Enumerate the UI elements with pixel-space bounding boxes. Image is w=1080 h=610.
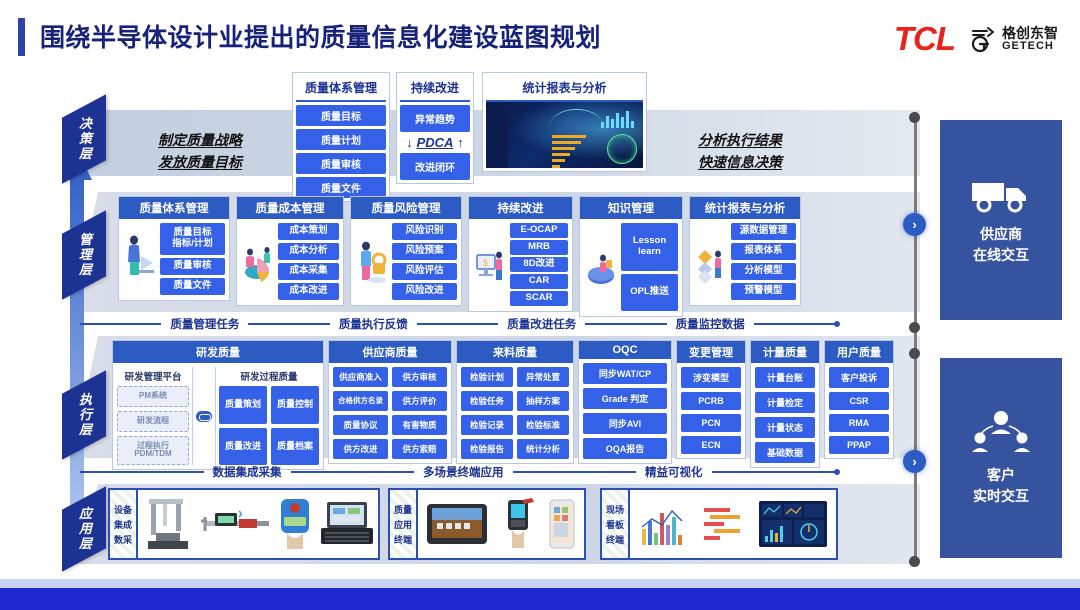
exec-chip[interactable]: 质量改进: [219, 428, 267, 466]
mgmt-chip[interactable]: 风险改进: [392, 283, 457, 300]
exec-col-customer-quality[interactable]: 用户质量 客户投诉 CSR RMA PPAP: [824, 340, 894, 459]
right-panel-customer[interactable]: 客户 实时交互: [940, 358, 1062, 558]
monitor-person-icon: $: [473, 223, 507, 306]
exec-chip[interactable]: 供方审核: [392, 367, 447, 387]
right-panel-supplier-label: 供应商 在线交互: [973, 224, 1029, 266]
exec-chip[interactable]: 抽样方案: [517, 391, 569, 411]
mgmt-chip[interactable]: 质量目标 指标/计划: [160, 223, 225, 255]
exec-chip[interactable]: 同步WAT/CP: [583, 363, 667, 384]
page-title: 围绕半导体设计业提出的质量信息化建设蓝图规划: [40, 18, 601, 54]
gantt-board-icon: [700, 502, 748, 546]
mgmt-chip[interactable]: SCAR: [510, 291, 568, 306]
rail-dot: [909, 322, 920, 333]
exec-chip[interactable]: PCRB: [681, 392, 741, 410]
mgmt-chip[interactable]: 质量审核: [160, 258, 225, 275]
exec-chip[interactable]: 质量协议: [333, 415, 388, 435]
mgmt-chip[interactable]: 质量文件: [160, 278, 225, 295]
exec-col-incoming-quality[interactable]: 来料质量 检验计划 异常处置 检验任务 抽样方案 检验记录 检验标准 检验报告 …: [456, 340, 574, 464]
decision-card-continuous-improvement[interactable]: 持续改进 异常趋势 ↓ PDCA ↑ 改进闭环: [396, 72, 474, 184]
exec-col-supplier-quality[interactable]: 供应商质量 供应商准入 供方审核 合格供方名录 供方评价 质量协议 有害物质 供…: [328, 340, 452, 464]
decision-chip[interactable]: 改进闭环: [400, 153, 470, 180]
mgmt-chip[interactable]: 成本采集: [278, 263, 339, 280]
truck-icon: [970, 175, 1032, 219]
mgmt-card-title: 持续改进: [469, 197, 572, 219]
getech-en-label: GETECH: [1002, 41, 1058, 53]
app-group-tag: 设备 集成 数采: [110, 490, 138, 558]
mgmt-card-title: 质量风险管理: [351, 197, 461, 219]
connector-row-top: 质量管理任务 质量执行反馈 质量改进任务 质量监控数据: [80, 316, 840, 332]
pdca-label: PDCA: [417, 135, 454, 150]
right-rail-line: [914, 112, 917, 564]
rail-dot: [909, 556, 920, 567]
rail-dot: [909, 348, 920, 359]
exec-col-title: 变更管理: [677, 341, 745, 363]
exec-chip[interactable]: OQA报告: [583, 438, 667, 459]
mgmt-card-title: 质量成本管理: [237, 197, 343, 219]
exec-chip[interactable]: 供方索赔: [392, 439, 447, 459]
mgmt-chip[interactable]: Lesson learn: [621, 223, 678, 271]
title-accent-bar: [18, 18, 25, 56]
pie-chart-people-icon: [241, 223, 275, 300]
rail-dot: [909, 112, 920, 123]
arrow-up-icon: ↑: [457, 135, 464, 150]
mgmt-card-statistics-analysis[interactable]: 统计报表与分析 源数据管理 报表体系 分析模型 预警模型: [689, 196, 801, 306]
app-group-quality-terminal[interactable]: 质量 应用 终端: [388, 488, 586, 560]
exec-chip[interactable]: 供方评价: [392, 391, 447, 411]
exec-col-title: 来料质量: [457, 341, 573, 363]
decision-slogan-right-1: 分析执行结果: [698, 130, 782, 150]
exec-chip[interactable]: 检验标准: [517, 415, 569, 435]
rail-expand-supplier-button[interactable]: ›: [903, 213, 926, 236]
mgmt-chip[interactable]: 风险识别: [392, 223, 457, 240]
app-group-andon-terminal[interactable]: 现场 看板 终端: [600, 488, 838, 560]
connector-label: 多场景终端应用: [414, 464, 513, 480]
person-lock-icon: [355, 223, 389, 300]
arrow-down-icon: ↓: [406, 135, 413, 150]
exec-chip[interactable]: 检验报告: [461, 439, 513, 459]
mgmt-chip[interactable]: E-OCAP: [510, 223, 568, 238]
exec-chip[interactable]: 基础数据: [755, 442, 815, 463]
exec-chip[interactable]: 供方改进: [333, 439, 388, 459]
exec-chip[interactable]: 异常处置: [517, 367, 569, 387]
decision-card-quality-system[interactable]: 质量体系管理 质量目标 质量计划 质量审核 质量文件: [292, 72, 390, 202]
pda-scanner-icon: [498, 498, 538, 550]
decision-card-statistics-analysis[interactable]: 统计报表与分析: [482, 72, 647, 172]
exec-chip[interactable]: 检验计划: [461, 367, 513, 387]
decision-card-title: 质量体系管理: [296, 76, 386, 102]
exec-dashed-chip[interactable]: PM系统: [117, 386, 189, 407]
connector-label: 质量执行反馈: [330, 316, 417, 332]
kpi-dashboard-icon: [758, 500, 828, 548]
decision-chip[interactable]: 异常趋势: [400, 105, 470, 132]
decision-slogan-left-1: 制定质量战略: [158, 130, 242, 150]
mgmt-chip[interactable]: 风险评估: [392, 263, 457, 280]
book-person-icon: [584, 223, 618, 311]
decision-card-title: 统计报表与分析: [486, 76, 643, 102]
right-panel-supplier[interactable]: 供应商 在线交互: [940, 120, 1062, 320]
mgmt-card-continuous-improvement[interactable]: 持续改进 $ E-OCAP MRB 8D改进 CAR SCAR: [468, 196, 573, 312]
exec-col-change-management[interactable]: 变更管理 涉变模型 PCRB PCN ECN: [676, 340, 746, 459]
link-connector-icon: [196, 411, 212, 422]
connector-label: 质量改进任务: [498, 316, 585, 332]
exec-col-metrology-quality[interactable]: 计量质量 计量台账 计量检定 计量状态 基础数据: [750, 340, 820, 468]
bar-chart-board-icon: [638, 499, 690, 549]
decision-slogan-right-2: 快速信息决策: [698, 152, 782, 172]
exec-subtitle: 研发过程质量: [219, 367, 319, 386]
layer-label-decision: 决策层: [75, 117, 94, 162]
decision-chip[interactable]: 质量审核: [296, 153, 386, 174]
handheld-scanner-icon: [275, 497, 315, 551]
industrial-laptop-icon: [319, 500, 375, 548]
person-laptop-icon: [123, 223, 157, 295]
layer-label-application: 应用层: [75, 507, 94, 552]
exec-chip[interactable]: 供应商准入: [333, 367, 388, 387]
right-panel-customer-label: 客户 实时交互: [973, 465, 1029, 507]
app-group-equipment-integration[interactable]: 设备 集成 数采: [108, 488, 380, 560]
exec-col-title: 用户质量: [825, 341, 893, 363]
upward-flow-arrow-icon: [62, 150, 92, 550]
connector-label: 质量监控数据: [667, 316, 754, 332]
exec-chip[interactable]: 质量控制: [271, 386, 319, 424]
exec-col-title: 供应商质量: [329, 341, 451, 363]
exec-chip[interactable]: PPAP: [829, 436, 889, 454]
getech-mark-icon: [967, 24, 997, 54]
mgmt-chip[interactable]: 预警模型: [731, 283, 796, 300]
exec-dashed-chip[interactable]: 过程执行 PDM/TDM: [117, 436, 189, 466]
decision-chip[interactable]: 质量目标: [296, 105, 386, 126]
mgmt-card-title: 知识管理: [580, 197, 682, 219]
layers-person-icon: [694, 223, 728, 300]
decision-chip[interactable]: 质量文件: [296, 177, 386, 198]
app-group-tag: 现场 看板 终端: [602, 490, 630, 558]
rail-expand-customer-button[interactable]: ›: [903, 450, 926, 473]
decision-card-title: 持续改进: [400, 76, 470, 102]
decision-slogan-left-2: 发放质量目标: [158, 152, 242, 172]
pdca-loop: ↓ PDCA ↑: [400, 135, 470, 150]
mgmt-chip[interactable]: 8D改进: [510, 257, 568, 272]
mgmt-card-title: 统计报表与分析: [690, 197, 800, 219]
mgmt-card-quality-system[interactable]: 质量体系管理 质量目标 指标/计划 质量审核 质量文件: [118, 196, 230, 301]
exec-chip[interactable]: 计量检定: [755, 392, 815, 413]
exec-chip[interactable]: Grade 判定: [583, 388, 667, 409]
exec-chip[interactable]: 合格供方名录: [333, 391, 388, 411]
exec-chip[interactable]: CSR: [829, 392, 889, 410]
mgmt-chip[interactable]: 风险预案: [392, 243, 457, 260]
connector-row-bottom: 数据集成采集 多场景终端应用 精益可视化: [80, 464, 840, 480]
connector-label: 精益可视化: [636, 464, 712, 480]
mgmt-chip[interactable]: CAR: [510, 274, 568, 289]
exec-col-title: OQC: [579, 341, 671, 359]
exec-chip[interactable]: PCN: [681, 414, 741, 432]
exec-dashed-chip[interactable]: 研发流程: [117, 411, 189, 432]
decision-chip[interactable]: 质量计划: [296, 129, 386, 150]
mgmt-chip[interactable]: OPL推送: [621, 274, 678, 311]
mgmt-chip[interactable]: 报表体系: [731, 243, 796, 260]
mgmt-chip[interactable]: 源数据管理: [731, 223, 796, 240]
exec-chip[interactable]: 涉变模型: [681, 367, 741, 388]
exec-chip[interactable]: 统计分析: [517, 439, 569, 459]
mgmt-card-quality-risk[interactable]: 质量风险管理 风险识别 风险预案 风险评估 风险改进: [350, 196, 462, 306]
layer-label-management: 管理层: [75, 233, 94, 278]
footer-bar: [0, 588, 1080, 610]
exec-chip[interactable]: ECN: [681, 436, 741, 454]
mgmt-chip[interactable]: MRB: [510, 240, 568, 255]
svg-text:$: $: [483, 258, 488, 268]
getech-logo: 格创东智 GETECH: [967, 24, 1058, 54]
exec-col-title: 研发质量: [113, 341, 323, 363]
exec-chip[interactable]: 计量状态: [755, 417, 815, 438]
exec-chip[interactable]: 计量台账: [755, 367, 815, 388]
digital-caliper-icon: [199, 509, 271, 539]
exec-col-title: 计量质量: [751, 341, 819, 363]
exec-chip[interactable]: 有害物质: [392, 415, 447, 435]
connector-label: 数据集成采集: [204, 464, 291, 480]
tcl-logo: TCL: [894, 20, 955, 58]
mgmt-card-title: 质量体系管理: [119, 197, 229, 219]
exec-col-oqc[interactable]: OQC 同步WAT/CP Grade 判定 同步AVI OQA报告: [578, 340, 672, 464]
exec-chip[interactable]: RMA: [829, 414, 889, 432]
exec-subtitle: 研发管理平台: [117, 367, 189, 386]
connector-label: 质量管理任务: [161, 316, 248, 332]
footer-accent-light: [0, 579, 1080, 588]
exec-chip[interactable]: 质量档案: [271, 428, 319, 466]
exec-chip[interactable]: 检验记录: [461, 415, 513, 435]
exec-chip[interactable]: 检验任务: [461, 391, 513, 411]
collaboration-icon: [969, 410, 1033, 460]
exec-col-rnd-quality[interactable]: 研发质量 研发管理平台 PM系统 研发流程 过程执行 PDM/TDM 研发过程质…: [112, 340, 324, 470]
getech-cn-label: 格创东智: [1002, 26, 1058, 41]
mgmt-chip[interactable]: 成本改进: [278, 283, 339, 300]
header: 围绕半导体设计业提出的质量信息化建设蓝图规划 TCL 格创东智 GETECH: [0, 0, 1080, 68]
brand-logos: TCL 格创东智 GETECH: [894, 20, 1058, 58]
exec-chip[interactable]: 同步AVI: [583, 413, 667, 434]
mgmt-chip[interactable]: 分析模型: [731, 263, 796, 280]
cmm-machine-icon: [143, 497, 195, 551]
dashboard-screenshot-icon: [486, 102, 643, 168]
mgmt-card-quality-cost[interactable]: 质量成本管理 成本策划 成本分析 成本采集 成本改进: [236, 196, 344, 306]
slide-canvas: 围绕半导体设计业提出的质量信息化建设蓝图规划 TCL 格创东智 GETECH: [0, 0, 1080, 610]
mgmt-card-knowledge[interactable]: 知识管理 Lesson learn OPL推送: [579, 196, 683, 317]
exec-chip[interactable]: 质量策划: [219, 386, 267, 424]
app-group-tag: 质量 应用 终端: [390, 490, 418, 558]
mgmt-chip[interactable]: 成本分析: [278, 243, 339, 260]
mgmt-chip[interactable]: 成本策划: [278, 223, 339, 240]
rugged-tablet-icon: [425, 501, 489, 547]
smartphone-icon: [547, 498, 577, 550]
layer-label-execution: 执行层: [75, 393, 94, 438]
exec-chip[interactable]: 客户投诉: [829, 367, 889, 388]
